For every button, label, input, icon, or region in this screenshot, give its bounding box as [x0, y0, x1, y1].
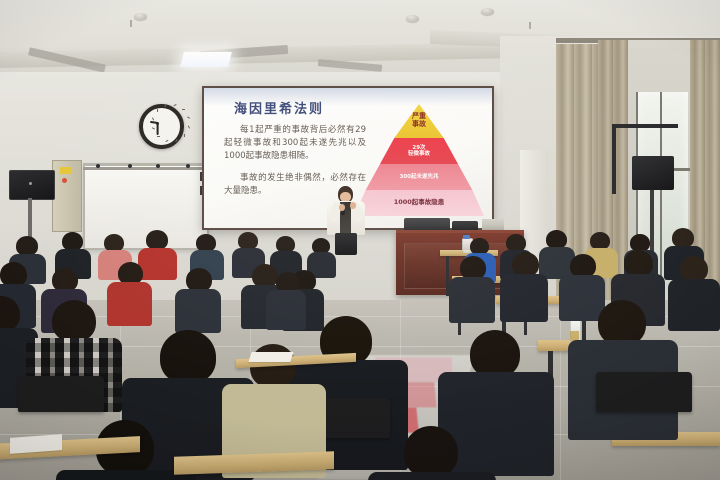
speaker-bracket	[612, 124, 616, 194]
whiteboard-magnet	[156, 164, 160, 168]
bottle-cap	[463, 235, 470, 239]
smoke-detector-icon	[481, 8, 494, 15]
pyramid-level-3: 300起未遂先兆	[354, 164, 484, 190]
smoke-detector-icon	[406, 15, 419, 22]
pyramid-level-1-line2: 事故	[412, 120, 426, 128]
loudspeaker	[632, 156, 674, 190]
pyramid-level-4: 1000起事故隐患	[354, 190, 484, 216]
presenter-lower-body	[335, 233, 357, 255]
clock-center	[156, 122, 159, 125]
slide-paragraph-1: 每1起严重的事故背后必然有29起轻微事故和300起未遂先兆以及1000起事故隐患…	[224, 124, 366, 163]
presenter	[326, 186, 366, 254]
whiteboard-magnet	[128, 164, 132, 168]
whiteboard-magnet	[186, 164, 190, 168]
pyramid-level-2: 29次 轻微事故	[354, 138, 484, 164]
sprinkler-icon	[529, 22, 531, 29]
wall-clock	[139, 104, 184, 149]
ceiling-light-panel	[180, 52, 232, 67]
speaker-stand	[650, 190, 654, 252]
sprinkler-icon	[130, 20, 132, 27]
wall-monitor	[9, 170, 55, 200]
chair	[596, 372, 692, 412]
classroom-photo-scene: 海因里希法则 每1起严重的事故背后必然有29起轻微事故和300起未遂先兆以及10…	[0, 0, 720, 480]
speaker-bracket	[614, 124, 678, 128]
handout-paper	[248, 352, 293, 362]
slide-title: 海因里希法则	[234, 98, 324, 117]
smoke-detector-icon	[134, 13, 147, 20]
presenter-right-hand	[350, 202, 356, 209]
cabinet-indicator	[62, 178, 67, 183]
presenter-left-hand	[339, 204, 345, 211]
monitor-stand	[28, 198, 32, 240]
pyramid-level-2-line2: 轻微事故	[408, 151, 430, 157]
cabinet-warning-label	[60, 167, 71, 174]
monitor-logo	[29, 182, 32, 185]
clock-minute-hand	[157, 123, 159, 135]
chair	[18, 376, 104, 412]
pyramid-level-1: 严重 事故	[354, 104, 484, 138]
safety-pyramid-chart: 严重 事故 29次 轻微事故 300起未遂先兆 1000起事故隐患	[354, 104, 484, 214]
whiteboard-magnet	[96, 164, 100, 168]
